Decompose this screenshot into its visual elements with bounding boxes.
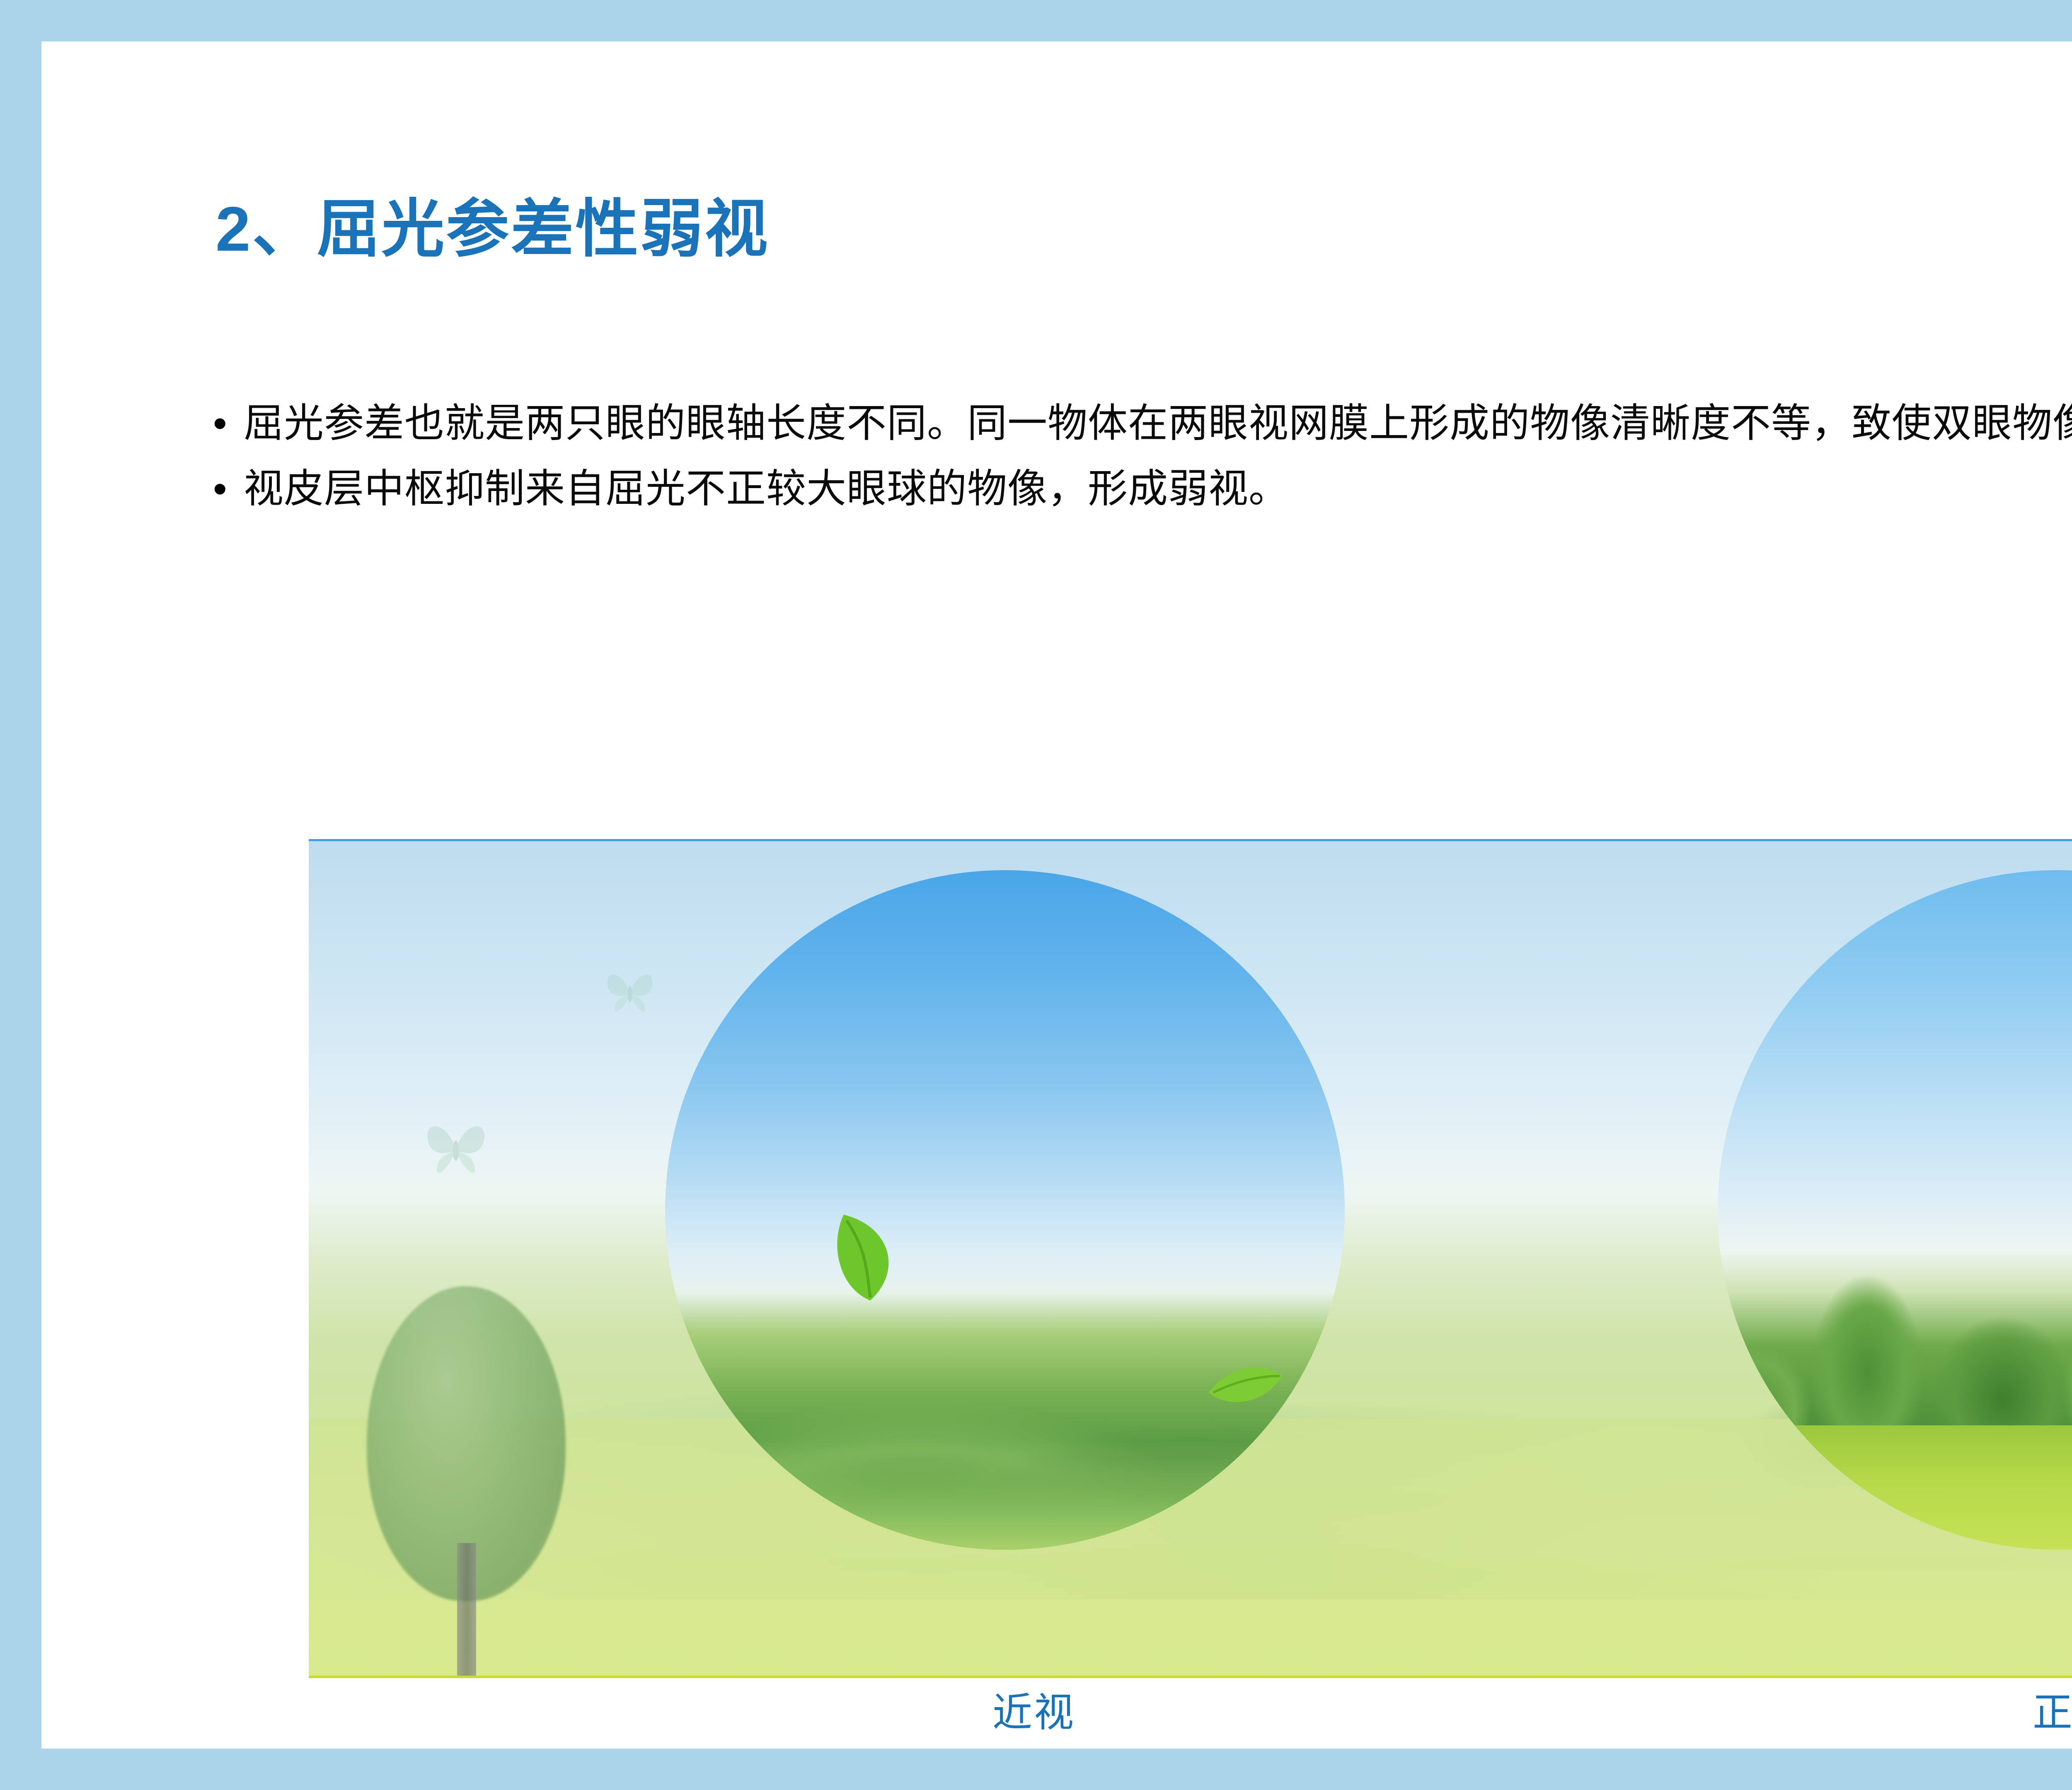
lens-scene [665,870,1345,1550]
butterfly-icon [599,965,661,1021]
bullet-list: • 屈光参差也就是两只眼的眼轴长度不同。同一物体在两眼视网膜上形成的物像清晰度不… [207,398,2072,529]
bullet-marker-icon: • [207,463,244,515]
caption-emmetropia: 正视 [2033,1680,2072,1738]
list-item: • 视皮层中枢抑制来自屈光不正较大眼球的物像，形成弱视。 [207,463,2072,515]
lens-grass [665,1459,1345,1550]
lens-grass [1718,1425,2072,1550]
caption-myopia: 近视 [992,1680,1075,1738]
slide-canvas: 2、屈光参差性弱视 • 屈光参差也就是两只眼的眼轴长度不同。同一物体在两眼视网膜… [41,41,2072,1749]
foreground-tree [350,1286,582,1676]
emmetropia-lens-circle [1718,870,2072,1550]
vision-comparison-image [309,839,2072,1678]
tree-trunk [457,1543,476,1676]
bullet-text: 视皮层中枢抑制来自屈光不正较大眼球的物像，形成弱视。 [244,463,2072,515]
bullet-marker-icon: • [207,398,244,449]
list-item: • 屈光参差也就是两只眼的眼轴长度不同。同一物体在两眼视网膜上形成的物像清晰度不… [207,398,2072,449]
myopia-lens-circle [665,870,1345,1550]
lens-scene [1718,870,2072,1550]
page-title: 2、屈光参差性弱视 [215,195,770,264]
leaf-icon [1204,1359,1287,1415]
leaf-icon [823,1206,918,1311]
bullet-text: 屈光参差也就是两只眼的眼轴长度不同。同一物体在两眼视网膜上形成的物像清晰度不等，… [244,398,2072,449]
butterfly-icon [416,1115,495,1185]
